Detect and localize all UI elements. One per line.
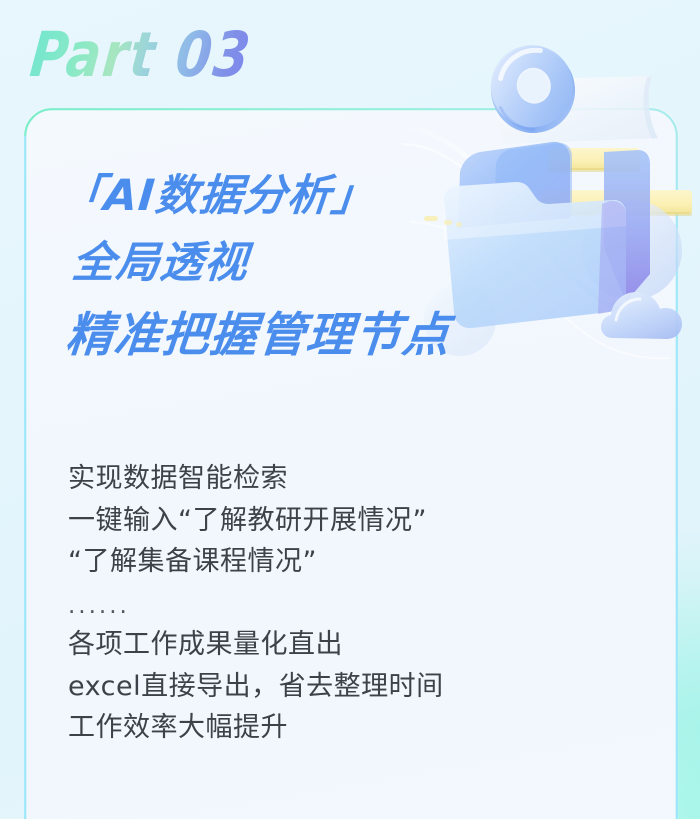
body-line: 一键输入“了解教研开展情况” [68,500,648,542]
heading-line-1: 「AI数据分析」 [58,170,661,223]
heading-line-2: 全局透视 [70,237,661,290]
part-label: Part 03 [27,24,254,86]
body-line-ellipsis: ...... [68,589,648,624]
body-line: 实现数据智能检索 [68,458,648,500]
body-text-block: 实现数据智能检索 一键输入“了解教研开展情况” “了解集备课程情况” .....… [68,458,648,749]
page-background: Part 03 [0,0,700,819]
body-line: “了解集备课程情况” [68,541,648,583]
body-line: 各项工作成果量化直出 [68,624,648,666]
body-line: excel直接导出，省去整理时间 [68,666,648,708]
heading-block: 「AI数据分析」 全局透视 精准把握管理节点 [58,170,658,365]
heading-line-3: 精准把握管理节点 [63,307,660,365]
body-line: 工作效率大幅提升 [68,707,648,749]
